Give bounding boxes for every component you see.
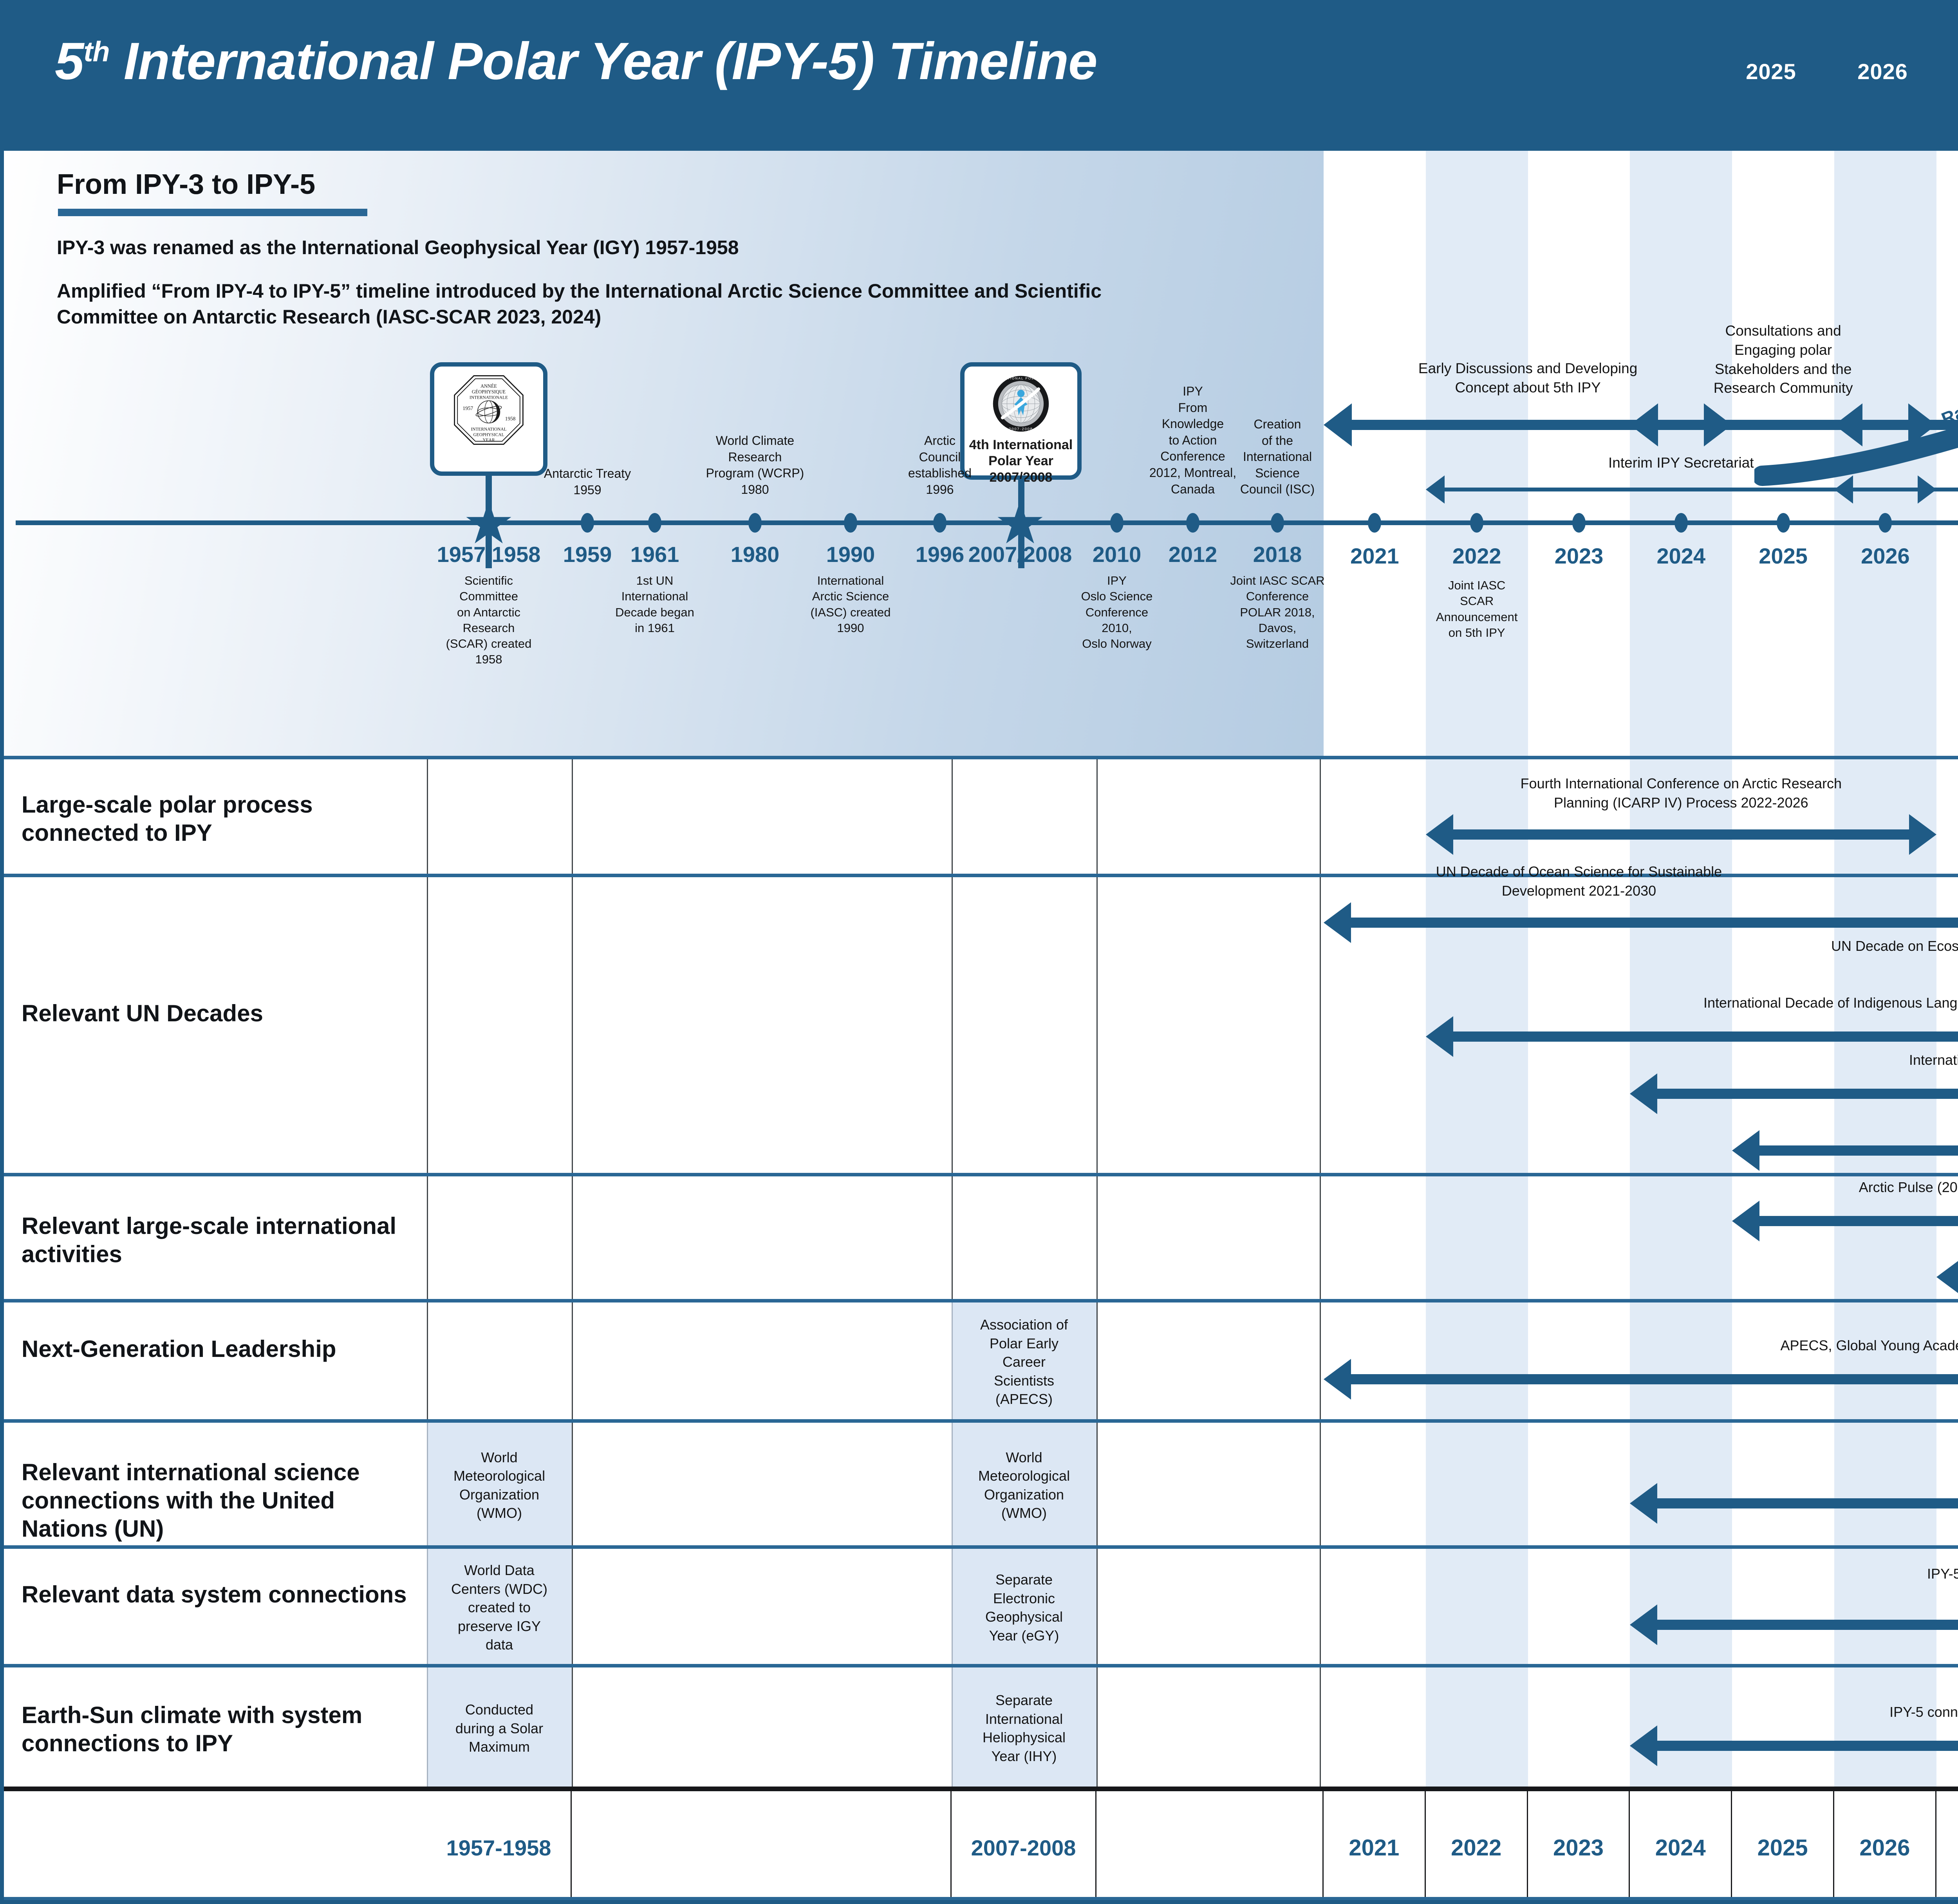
row-divider [572,1302,573,1423]
timeline-year-1990: 1990 [826,542,875,567]
footer-year-cell-2026: 2026 [1834,1791,1936,1904]
row-divider [572,1667,573,1790]
row-divider [952,759,953,877]
timeline-dot-1959 [581,513,594,533]
igy-seal-icon: ANNÉE GÉOPHYSIQUE INTERNATIONALE 1957 19… [452,373,526,447]
row-label-5: Relevant data system connections [22,1581,417,1609]
timeline-year-2024: 2024 [1657,543,1706,569]
hist-cell-2007-2008-4: WorldMeteorologicalOrganization(WMO) [952,1448,1096,1523]
row-divider [952,877,953,1176]
timeline-event-below-1990: InternationalArctic Science(IASC) create… [802,573,900,636]
svg-text:2007·2008: 2007·2008 [1009,427,1033,431]
row-divider [427,877,428,1176]
row-arrow-label-4-0: IPY-5 connections across the ISC and UN … [1630,1460,1958,1479]
svg-text:1958: 1958 [505,416,516,422]
row-arrow-label-1-3: International Decade of Sciences for Sus… [1630,1051,1958,1070]
timeline-dot-1990 [844,513,857,533]
row-divider [1320,1423,1321,1549]
timeline-year-1996: 1996 [916,542,965,567]
row-divider [572,1176,573,1302]
timeline-dot-2012 [1186,513,1199,533]
timeline-dot-2021 [1368,513,1381,533]
intro-divider [58,209,367,216]
row-label-1: Relevant UN Decades [22,999,417,1028]
timeline-dot-2023 [1572,513,1586,533]
timeline-event-above-1980: World ClimateResearchProgram (WCRP)1980 [700,433,810,498]
svg-text:YEAR: YEAR [482,438,495,443]
row-divider [572,1549,573,1667]
secretariat-label-0: Interim IPY Secretariat [1505,453,1857,473]
row-divider [572,877,573,1176]
row-divider [1096,1667,1098,1790]
timeline-year-1959: 1959 [563,542,612,567]
footer-bottom-rule [0,1897,1958,1904]
row-year-column-2022 [1426,1176,1528,1299]
row-arrow-2-1 [1936,1257,1958,1297]
footer-year-cell-2024: 2024 [1630,1791,1732,1904]
header-year-2027: 2027 [1938,59,1958,84]
row-arrow-2-0 [1732,1201,1958,1241]
row-year-column-2022 [1426,1549,1528,1664]
row-divider [1096,1176,1098,1302]
timeline-event-below-2010: IPYOslo ScienceConference2010,Oslo Norwa… [1068,573,1166,652]
hist-cell-2007-2008-5: SeparateElectronicGeophysicalYear (eGY) [952,1570,1096,1645]
category-row-1: Relevant UN DecadesUN Decade of Ocean Sc… [0,874,1958,1173]
row-arrow-label-2-0: Arctic Pulse (2025-2028) [1732,1178,1958,1197]
row-arrow-label-1-2: International Decade of Indigenous Langu… [1426,994,1958,1013]
row-arrow-label-5-0: IPY-5 connections with transdisciplinary… [1630,1564,1958,1602]
timeline-year-1957-1958: 1957/1958 [437,542,541,567]
category-row-3: Next-Generation LeadershipAssociation of… [0,1299,1958,1419]
svg-text:INTERNATIONAL POLAR YEAR: INTERNATIONAL POLAR YEAR [992,376,1050,380]
row-divider [1320,1667,1321,1790]
row-arrow-label-1-1: UN Decade on Ecosystem Restoration 2021-… [1477,937,1958,956]
timeline-year-2022: 2022 [1452,543,1501,569]
svg-text:1957: 1957 [463,405,473,411]
svg-text:GEOPHYSICAL: GEOPHYSICAL [473,433,504,437]
hist-cell-1957-1958-5: World DataCenters (WDC)created topreserv… [427,1561,572,1654]
footer-year-cell-2021: 2021 [1324,1791,1426,1904]
row-divider [1320,1302,1321,1423]
row-divider [572,1423,573,1549]
row-arrow-label-0-0: Fourth International Conference on Arcti… [1426,774,1936,812]
row-arrow-4-0 [1630,1483,1958,1524]
row-divider [1096,1302,1098,1423]
timeline-dot-1980 [748,513,762,533]
row-divider [427,1176,428,1302]
timeline-event-below-2018: Joint IASC SCARConferencePOLAR 2018,Davo… [1228,573,1326,652]
ipy4-seal-icon: INTERNATIONAL POLAR YEAR 2007·2008 [992,374,1050,433]
row-divider [1320,877,1321,1176]
row-arrow-1-4 [1732,1130,1958,1171]
timeline-dot-1961 [648,513,661,533]
phase-arrow-2 [1834,403,1958,446]
phase-label-1: Consultations andEngaging polarStakehold… [1607,322,1958,398]
timeline-year-2021: 2021 [1350,543,1399,569]
timeline-year-2018: 2018 [1253,542,1302,567]
row-year-column-2022 [1426,1667,1528,1787]
row-arrow-3-0 [1324,1359,1958,1400]
svg-text:GÉOPHYSIQUE: GÉOPHYSIQUE [472,389,506,394]
secretariat-arrow-1 [1834,475,1958,504]
row-arrow-label-6-0: IPY-5 connections with Sun-climate resea… [1630,1703,1958,1722]
badge-igy-1957: ANNÉE GÉOPHYSIQUE INTERNATIONALE 1957 19… [430,362,547,476]
row-arrow-0-0 [1426,814,1936,855]
timeline-year-2023: 2023 [1555,543,1604,569]
header-year-scale: 2025202620272028202920302031203220332034 [1715,59,1958,84]
row-arrow-5-0 [1630,1604,1958,1645]
category-row-2: Relevant large-scale international activ… [0,1173,1958,1299]
footer-left-cell-0: 1957-1958 [427,1791,572,1904]
footer-year-cell-2025: 2025 [1732,1791,1834,1904]
row-arrow-label-1-0: UN Decade of Ocean Science for Sustainab… [1068,862,1958,900]
timeline-dot-2025 [1777,513,1790,533]
timeline-year-2010: 2010 [1093,542,1142,567]
row-arrow-label-1-4: UN Decade of Action for Cryopsheric Scie… [1732,1107,1958,1127]
timeline-event-above-1996: ArcticCouncilestablished1996 [885,433,995,498]
timeline-year-1961: 1961 [630,542,679,567]
row-divider [1096,1549,1098,1667]
row-divider [427,1302,428,1423]
footer-year-cell-2022: 2022 [1426,1791,1528,1904]
row-arrow-6-0 [1630,1725,1958,1766]
timeline-dot-2024 [1674,513,1688,533]
row-arrow-label-3-0: APECS, Global Young Academy, national yo… [1324,1336,1958,1355]
timeline-year-2026: 2026 [1861,543,1910,569]
svg-text:ANNÉE: ANNÉE [480,383,497,389]
svg-text:INTERNATIONALE: INTERNATIONALE [470,396,508,400]
row-arrow-label-2-1: Antarctic InSync (2027-2030) [1936,1234,1958,1253]
header-year-2025: 2025 [1715,59,1827,84]
category-row-6: Earth-Sun climate with system connection… [0,1664,1958,1787]
timeline-dot-2018 [1271,513,1284,533]
footer-year-cell-2023: 2023 [1528,1791,1630,1904]
row-label-0: Large-scale polar process connected to I… [22,791,417,847]
row-label-2: Relevant large-scale international activ… [22,1212,417,1268]
timeline-year-2025: 2025 [1759,543,1808,569]
category-row-0: Large-scale polar process connected to I… [0,756,1958,874]
timeline-axis [16,520,1958,525]
intro-paragraph-2: Amplified “From IPY-4 to IPY-5” timeline… [57,278,1192,330]
row-divider [427,759,428,877]
timeline-event-below-1957-1958: Scientific Committeeon Antarctic Researc… [440,573,538,668]
timeline-note-2022: Joint IASCSCARAnnouncementon 5th IPY [1426,578,1528,641]
footer-left-cell-3 [1096,1791,1324,1904]
hist-cell-2007-2008-3: Association ofPolar EarlyCareerScientist… [952,1315,1096,1409]
page-title: 5th International Polar Year (IPY-5) Tim… [55,31,1097,91]
hist-cell-1957-1958-6: Conductedduring a SolarMaximum [427,1700,572,1756]
timeline-dot-2010 [1110,513,1124,533]
header-bar: 5th International Polar Year (IPY-5) Tim… [0,0,1958,151]
timeline-year-2012: 2012 [1169,542,1217,567]
timeline-dot-2022 [1470,513,1483,533]
row-divider [572,759,573,877]
hist-cell-1957-1958-4: WorldMeteorologicalOrganization(WMO) [427,1448,572,1523]
infographic-root: 5th International Polar Year (IPY-5) Tim… [0,0,1958,1904]
top-panel: From IPY-3 to IPY-5 IPY-3 was renamed as… [0,151,1958,756]
row-label-4: Relevant international science connectio… [22,1458,417,1543]
footer-left-cell-1 [572,1791,952,1904]
footer-year-cell-2027: 2027 [1936,1791,1958,1904]
footer-left-cell-2: 2007-2008 [952,1791,1096,1904]
timeline-year-2007-2008: 2007/2008 [968,542,1072,567]
header-year-2026: 2026 [1827,59,1938,84]
row-divider [1320,759,1321,877]
category-row-4: Relevant international science connectio… [0,1419,1958,1545]
timeline-dot-2026 [1879,513,1892,533]
row-year-column-2022 [1426,1423,1528,1545]
row-divider [1096,759,1098,877]
timeline-event-above-2018: Creationof theInternationalScienceCounci… [1223,416,1332,498]
timeline-year-1980: 1980 [731,542,780,567]
row-divider [1096,1423,1098,1549]
intro-paragraph-1: IPY-3 was renamed as the International G… [57,236,739,259]
row-divider [1320,1549,1321,1667]
timeline-event-above-1959: Antarctic Treaty1959 [533,466,642,498]
hist-cell-2007-2008-6: SeparateInternationalHeliophysicalYear (… [952,1691,1096,1765]
row-label-6: Earth-Sun climate with system connection… [22,1701,417,1758]
category-rows: Large-scale polar process connected to I… [0,756,1958,1787]
row-year-column-2024 [1630,1176,1732,1299]
row-label-3: Next-Generation Leadership [22,1335,417,1363]
footer-year-scale: 1957-19582007-20082021202220232024202520… [0,1787,1958,1904]
category-row-5: Relevant data system connectionsWorld Da… [0,1545,1958,1664]
row-divider [1320,1176,1321,1302]
row-divider [952,1176,953,1302]
timeline-dot-1996 [933,513,946,533]
intro-heading: From IPY-3 to IPY-5 [57,168,315,201]
timeline-event-below-1961: 1st UNInternationalDecade beganin 1961 [606,573,704,636]
row-divider [1096,877,1098,1176]
svg-text:INTERNATIONAL: INTERNATIONAL [471,427,506,432]
